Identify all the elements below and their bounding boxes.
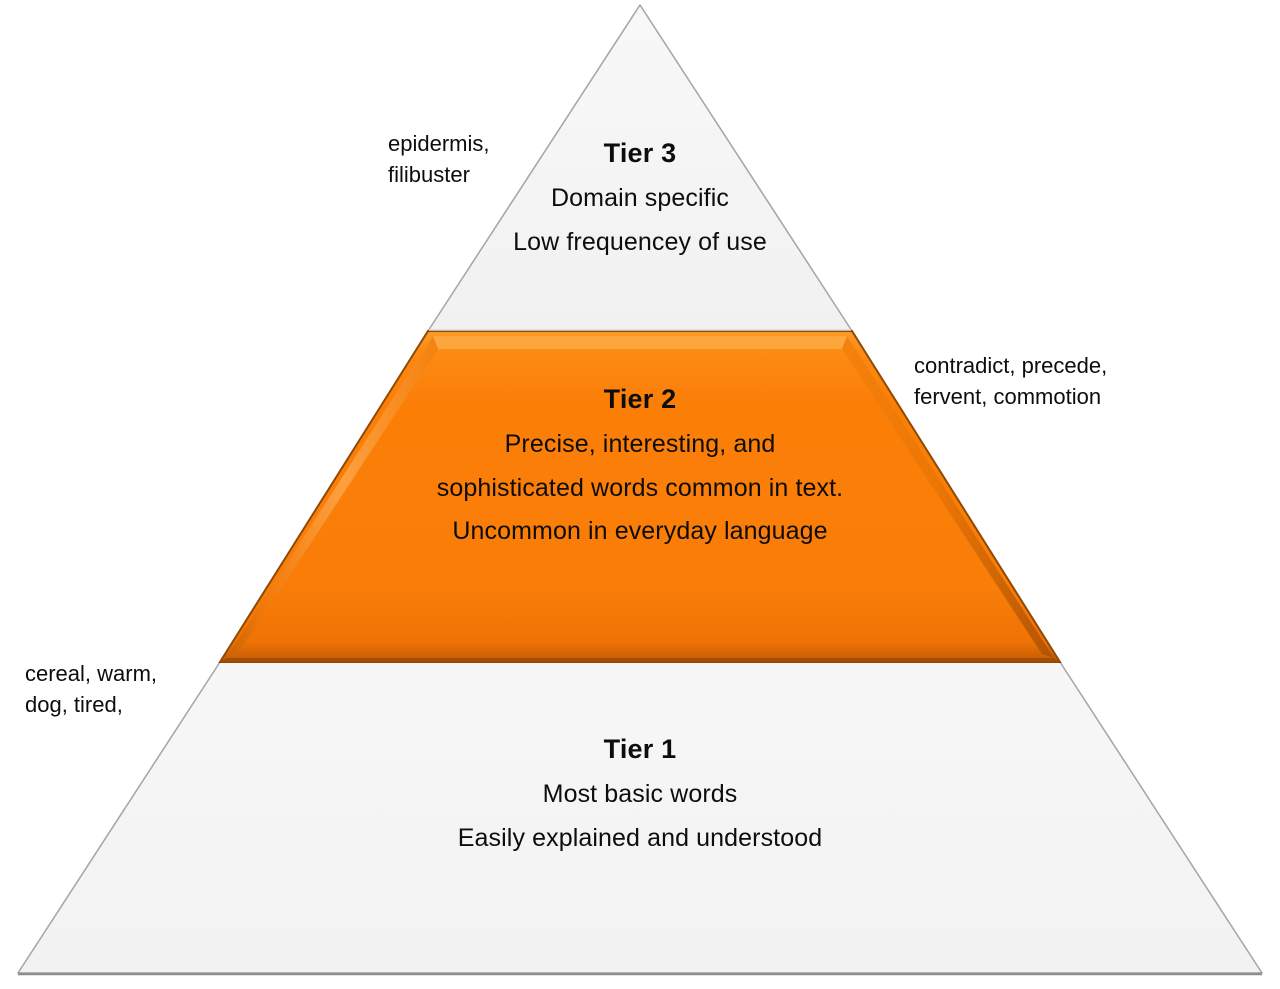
tier-2-line-3: Uncommon in everyday language — [340, 515, 940, 548]
pyramid-diagram: Tier 3 Domain specific Low frequencey of… — [0, 0, 1280, 989]
tier-2-top-bevel — [433, 336, 847, 349]
tier-1-title: Tier 1 — [340, 732, 940, 767]
tier-1-callout-line-2: dog, tired, — [25, 689, 157, 720]
tier-3-line-2: Low frequencey of use — [390, 226, 890, 259]
tier-2-line-1: Precise, interesting, and — [340, 428, 940, 461]
tier-2-text-block: Tier 2 Precise, interesting, and sophist… — [340, 382, 940, 548]
tier-1-callout: cereal, warm, dog, tired, — [25, 658, 157, 720]
tier-2-bottom-bevel — [220, 658, 1060, 662]
tier-2-callout-line-1: contradict, precede, — [914, 350, 1107, 381]
tier-2-line-2: sophisticated words common in text. — [340, 472, 940, 505]
tier-1-callout-line-1: cereal, warm, — [25, 658, 157, 689]
tier-1-line-1: Most basic words — [340, 778, 940, 811]
tier-2-callout: contradict, precede, fervent, commotion — [914, 350, 1107, 412]
tier-2-callout-line-2: fervent, commotion — [914, 381, 1107, 412]
tier-3-callout-line-1: epidermis, — [388, 128, 489, 159]
tier-3-callout-line-2: filibuster — [388, 159, 489, 190]
tier-3-callout: epidermis, filibuster — [388, 128, 489, 190]
tier-2-title: Tier 2 — [340, 382, 940, 417]
tier-1-line-2: Easily explained and understood — [340, 822, 940, 855]
tier-1-text-block: Tier 1 Most basic words Easily explained… — [340, 732, 940, 854]
